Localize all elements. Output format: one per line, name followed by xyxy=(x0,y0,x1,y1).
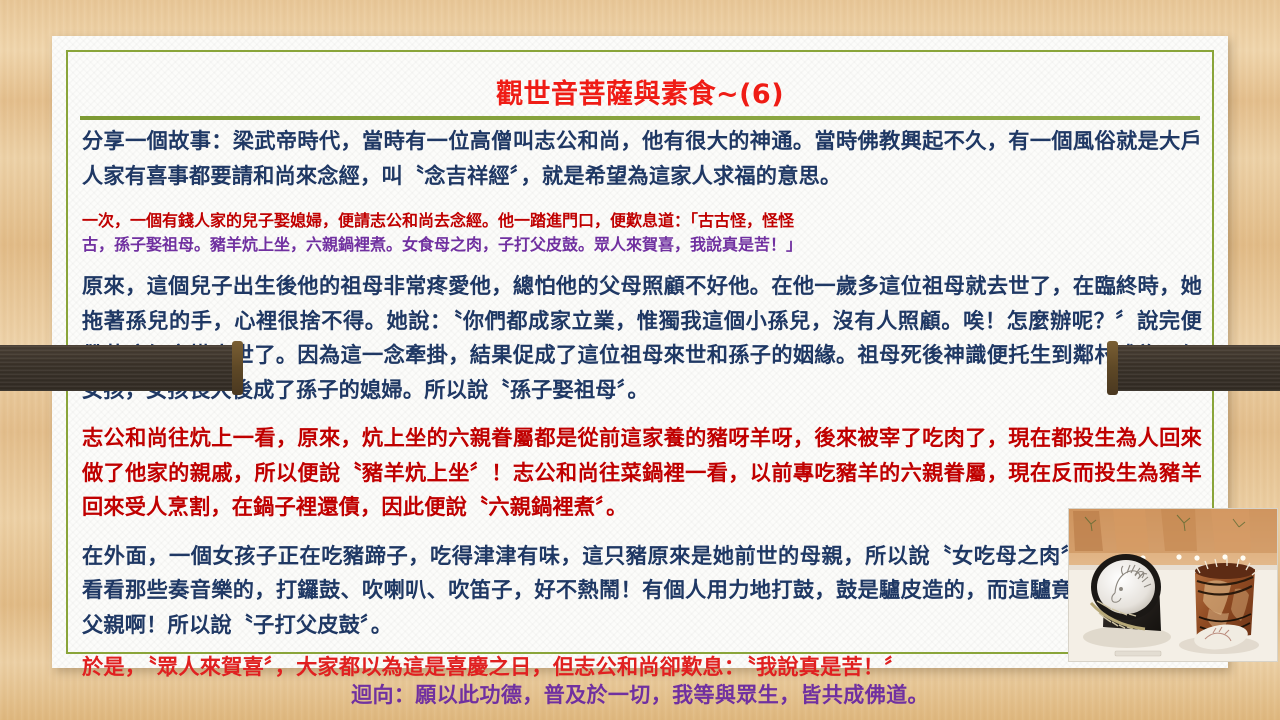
hide-drums-illustration xyxy=(1069,509,1277,661)
scroll-rod-left xyxy=(0,345,240,391)
title-divider xyxy=(80,116,1200,120)
page-title: 觀世音菩薩與素食~(6) xyxy=(52,72,1228,111)
paragraph-intro: 分享一個故事：梁武帝時代，當時有一位高僧叫志公和尚，他有很大的神通。當時佛教興起… xyxy=(82,124,1202,193)
slide-body: 分享一個故事：梁武帝時代，當時有一位高僧叫志公和尚，他有很大的神通。當時佛教興起… xyxy=(82,124,1202,648)
paragraph-pigs-sheep: 志公和尚往炕上一看，原來，炕上坐的六親眷屬都是從前這家養的豬呀羊呀，後來被宰了吃… xyxy=(82,421,1202,525)
paragraph-grandmother: 原來，這個兒子出生後他的祖母非常疼愛他，總怕他的父母照顧不好他。在他一歲多這位祖… xyxy=(82,269,1202,407)
paragraph-drum: 在外面，一個女孩子正在吃豬蹄子，吃得津津有味，這只豬原來是她前世的母親，所以說〝… xyxy=(82,539,1202,643)
verse-line-1: 一次，一個有錢人家的兒子娶媳婦，便請志公和尚去念經。他一踏進門口，便歎息道：「古… xyxy=(82,207,1202,231)
spacer xyxy=(82,525,1202,539)
scroll-rod-cap-right xyxy=(1107,341,1118,395)
spacer xyxy=(82,255,1202,269)
spacer xyxy=(82,193,1202,207)
scroll-rod-right xyxy=(1110,345,1280,391)
scroll-rod-cap-left xyxy=(232,341,243,395)
verse-line-2: 古，孫子娶祖母。豬羊炕上坐，六親鍋裡煮。女食母之肉，子打父皮鼓。眾人來賀喜，我說… xyxy=(82,231,1202,255)
dedication-footer: 迴向：願以此功德，普及於一切，我等與眾生，皆共成佛道。 xyxy=(0,679,1280,709)
spacer xyxy=(82,407,1202,421)
spacer xyxy=(82,642,1202,650)
hide-drums-photo xyxy=(1068,508,1278,662)
paragraph-verse: 一次，一個有錢人家的兒子娶媳婦，便請志公和尚去念經。他一踏進門口，便歎息道：「古… xyxy=(82,207,1202,255)
